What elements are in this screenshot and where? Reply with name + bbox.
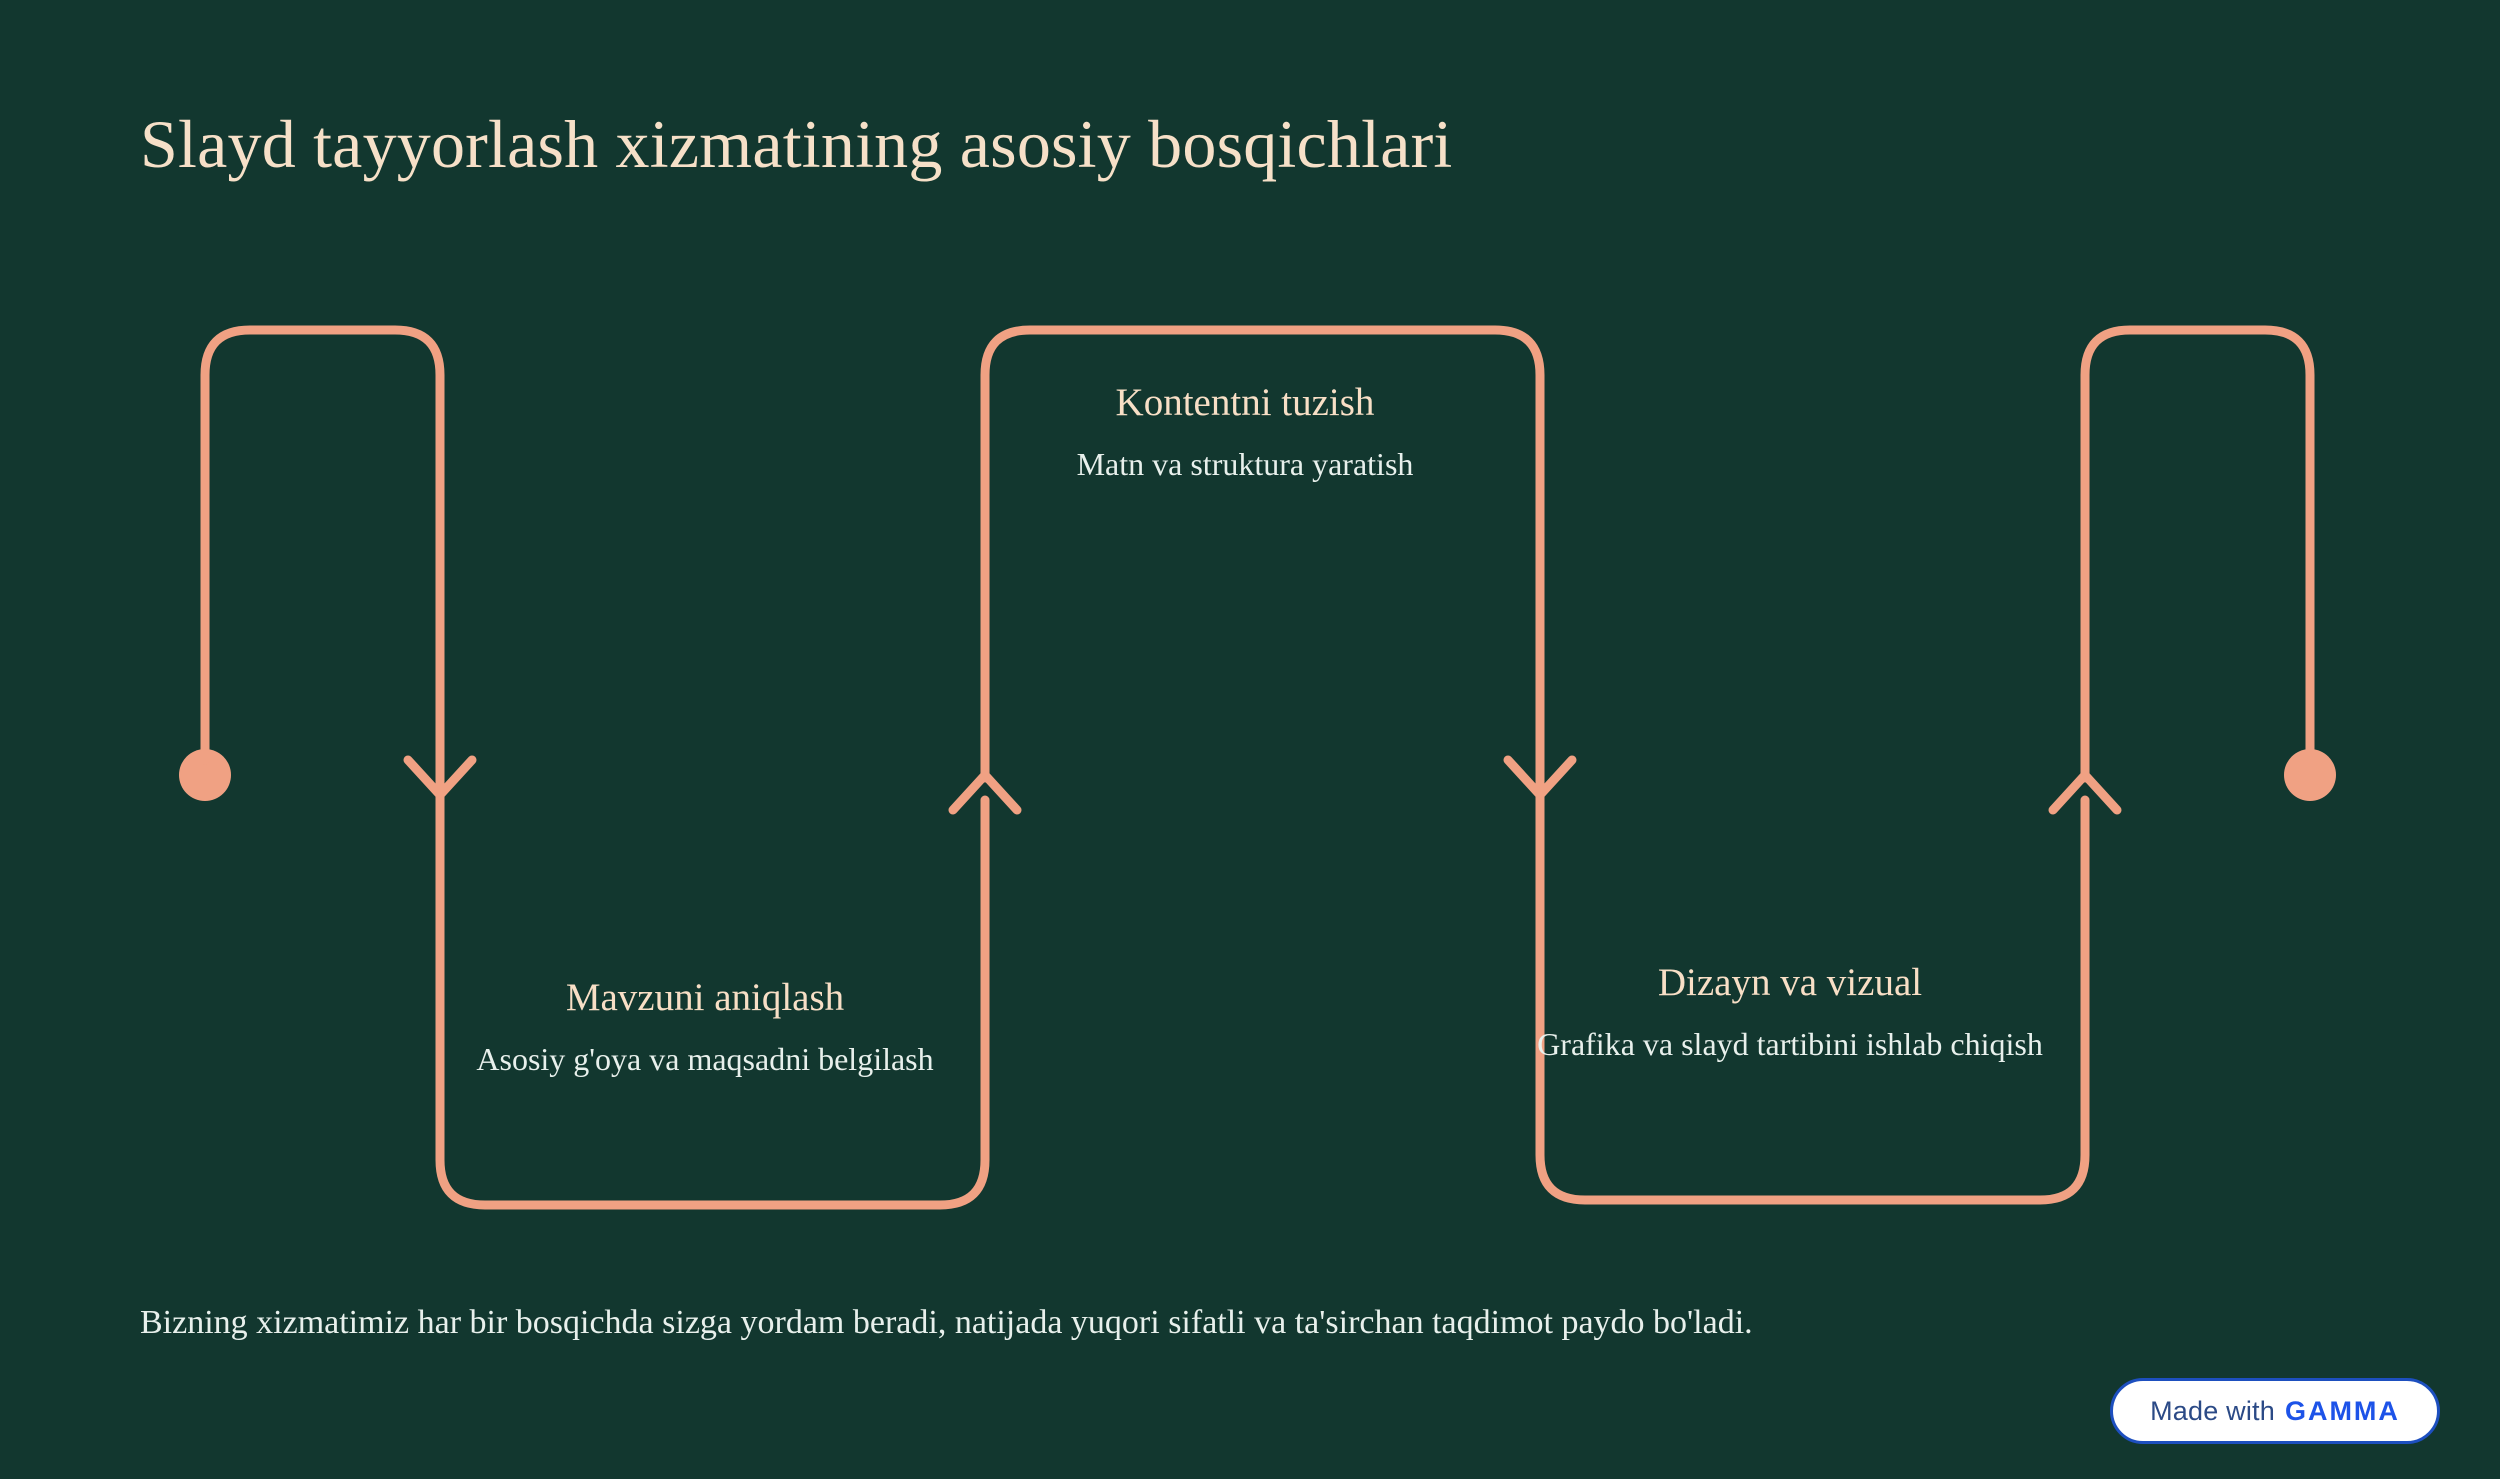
flow-step-3-title: Dizayn va vizual	[1530, 960, 2050, 1007]
arrowhead-down-2	[1508, 760, 1572, 795]
flow-start-dot	[179, 749, 231, 801]
badge-label: Made with	[2150, 1396, 2275, 1427]
flow-segment-5	[2085, 330, 2310, 778]
arrowhead-down-1	[408, 760, 472, 795]
made-with-gamma-badge[interactable]: Made with GAMMA	[2110, 1378, 2440, 1444]
footer-note: Bizning xizmatimiz har bir bosqichda siz…	[140, 1300, 2360, 1346]
process-flow-diagram	[0, 0, 2500, 1479]
flow-end-dot	[2284, 749, 2336, 801]
slide-canvas: Slayd tayyorlash xizmatining asosiy bosq…	[0, 0, 2500, 1479]
flow-step-2-title: Kontentni tuzish	[985, 380, 1505, 427]
badge-brand-gamma: GAMMA	[2285, 1396, 2400, 1427]
flow-segment-1	[205, 330, 440, 800]
flow-step-3-description: Grafika va slayd tartibini ishlab chiqis…	[1530, 1023, 2050, 1065]
flow-step-1-description: Asosiy g'oya va maqsadni belgilash	[445, 1038, 965, 1080]
flow-step-1: Mavzuni aniqlash Asosiy g'oya va maqsadn…	[445, 975, 965, 1080]
flow-step-2-description: Matn va struktura yaratish	[985, 443, 1505, 485]
page-title: Slayd tayyorlash xizmatining asosiy bosq…	[140, 108, 1453, 181]
arrowhead-up-1	[953, 775, 1017, 810]
flow-step-3: Dizayn va vizual Grafika va slayd tartib…	[1530, 960, 2050, 1065]
flow-step-1-title: Mavzuni aniqlash	[445, 975, 965, 1022]
arrowhead-up-2	[2053, 775, 2117, 810]
flow-step-2: Kontentni tuzish Matn va struktura yarat…	[985, 380, 1505, 485]
